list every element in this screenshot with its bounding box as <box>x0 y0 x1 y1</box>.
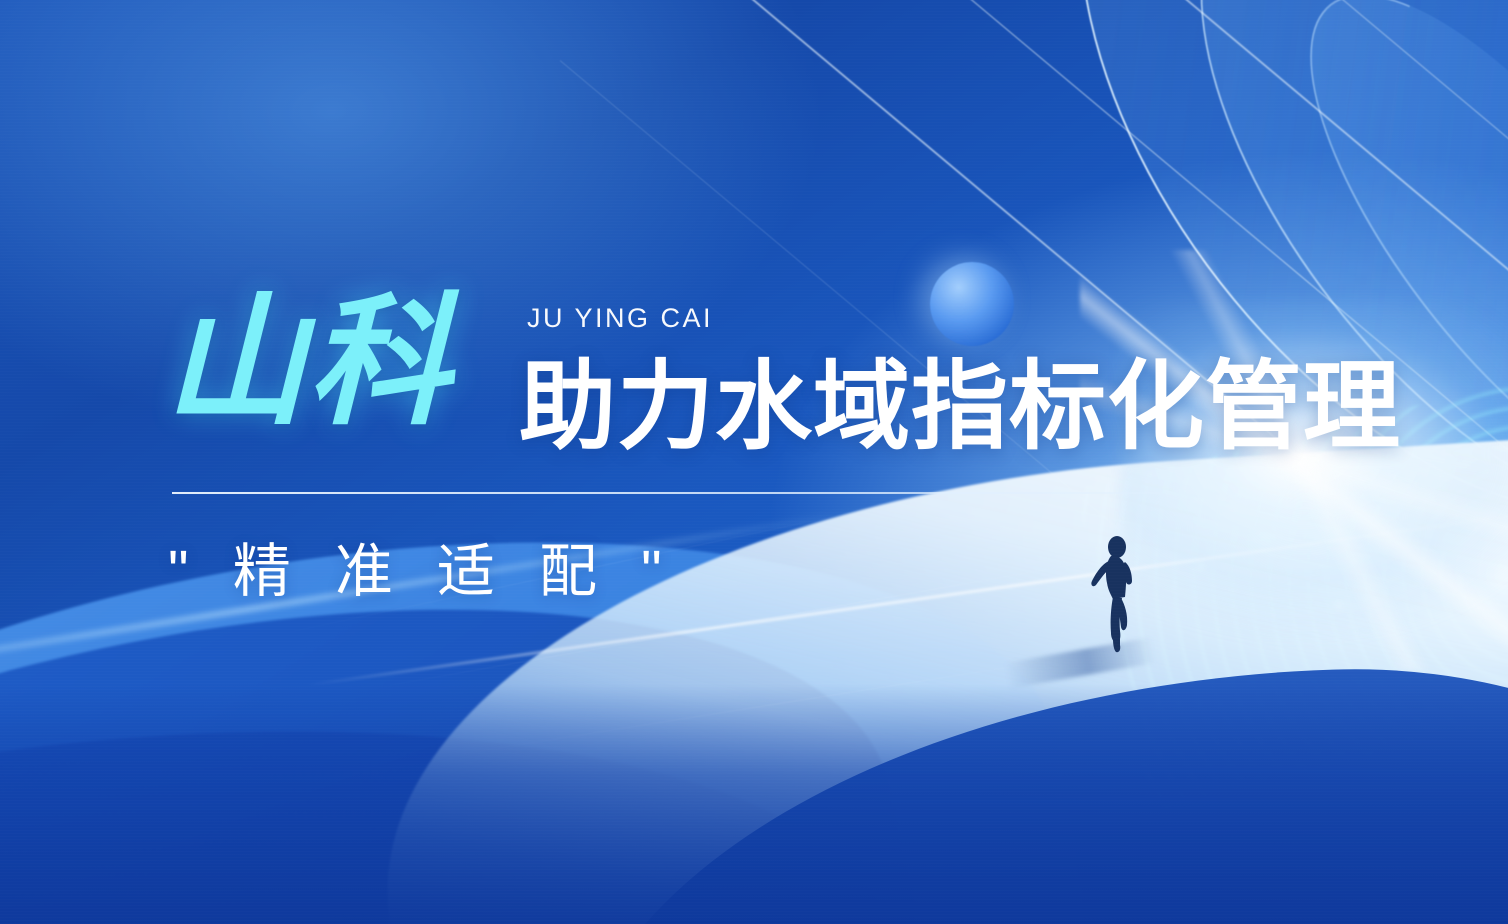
promo-banner: 山科 JU YING CAI 助力水域指标化管理 " 精 准 适 配 " <box>0 0 1508 924</box>
brand-name: 山科 <box>164 292 452 434</box>
tagline: " 精 准 适 配 " <box>168 543 676 601</box>
divider <box>172 492 1162 494</box>
brand-pinyin: JU YING CAI <box>527 305 713 332</box>
headline: 助力水域指标化管理 <box>519 358 1401 455</box>
text-block: 山科 JU YING CAI 助力水域指标化管理 " 精 准 适 配 " <box>0 0 1508 924</box>
